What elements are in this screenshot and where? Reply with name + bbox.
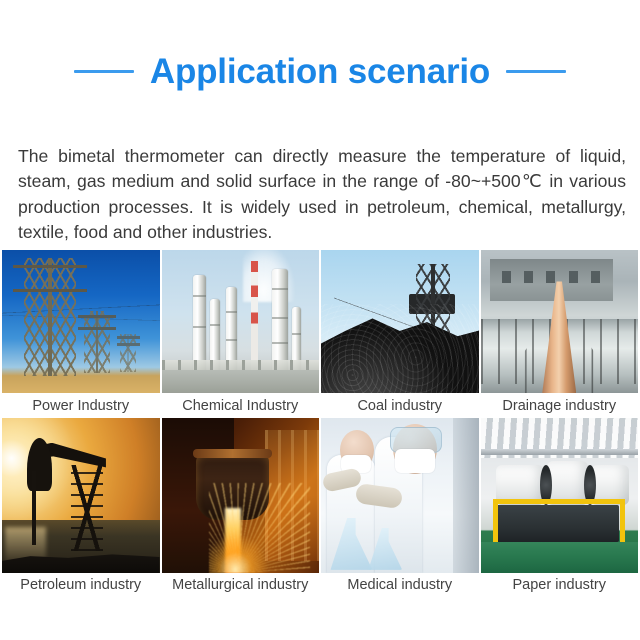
paper-industry-photo: [481, 418, 639, 573]
distillation-tower-icon: [272, 269, 288, 373]
ladle-rim-icon: [193, 449, 272, 458]
metallurgical-industry-photo: [162, 418, 320, 573]
coal-texture-icon: [321, 304, 479, 393]
gallery-item-metallurgical-industry[interactable]: Metallurgical industry: [162, 418, 320, 596]
gallery-caption: Chemical Industry: [162, 393, 320, 418]
transmission-pylon-icon: [24, 258, 76, 376]
gallery-caption: Paper industry: [481, 573, 639, 596]
polished-rod-icon: [32, 471, 36, 545]
gallery-item-petroleum-industry[interactable]: Petroleum industry: [2, 418, 160, 596]
transmission-pylon-icon: [84, 311, 110, 373]
gallery-caption: Drainage industry: [481, 393, 639, 418]
gallery-item-paper-industry[interactable]: Paper industry: [481, 418, 639, 596]
petroleum-industry-photo: [2, 418, 160, 573]
factory-floor-icon: [481, 542, 639, 573]
gallery-caption: Petroleum industry: [2, 573, 160, 596]
structural-beam-icon: [481, 449, 639, 455]
safety-railing-icon: [493, 499, 625, 546]
chemical-industry-photo: [162, 250, 320, 393]
gallery-item-medical-industry[interactable]: Medical industry: [321, 418, 479, 596]
title-rule-right-icon: [506, 70, 566, 73]
chimney-stack-icon: [251, 261, 258, 373]
transmission-pylon-icon: [120, 334, 136, 372]
gallery-item-power-industry[interactable]: Power Industry: [2, 250, 160, 418]
lab-shelf-icon: [453, 418, 478, 573]
gallery-item-chemical-industry[interactable]: Chemical Industry: [162, 250, 320, 418]
application-gallery-grid: Power Industry Chemical Industry: [2, 250, 638, 596]
face-mask-icon: [395, 449, 435, 473]
gallery-item-drainage-industry[interactable]: Drainage industry: [481, 250, 639, 418]
distillation-tower-icon: [193, 275, 206, 373]
gallery-caption: Coal industry: [321, 393, 479, 418]
page-title-block: Application scenario: [0, 48, 640, 94]
page-title: Application scenario: [150, 54, 490, 89]
gallery-caption: Medical industry: [321, 573, 479, 596]
plant-ground-icon: [162, 370, 320, 393]
coal-industry-photo: [321, 250, 479, 393]
power-industry-photo: [2, 250, 160, 393]
description-paragraph: The bimetal thermometer can directly mea…: [18, 144, 626, 246]
gallery-caption: Metallurgical industry: [162, 573, 320, 596]
treatment-plant-building-icon: [490, 259, 613, 302]
gallery-item-coal-industry[interactable]: Coal industry: [321, 250, 479, 418]
gallery-caption: Power Industry: [2, 393, 160, 418]
drainage-industry-photo: [481, 250, 639, 393]
spark-burst-icon: [209, 483, 310, 573]
application-scenario-page: Application scenario The bimetal thermom…: [0, 0, 640, 640]
pumpjack-frame-icon: [71, 465, 103, 552]
title-rule-left-icon: [74, 70, 134, 73]
medical-industry-photo: [321, 418, 479, 573]
